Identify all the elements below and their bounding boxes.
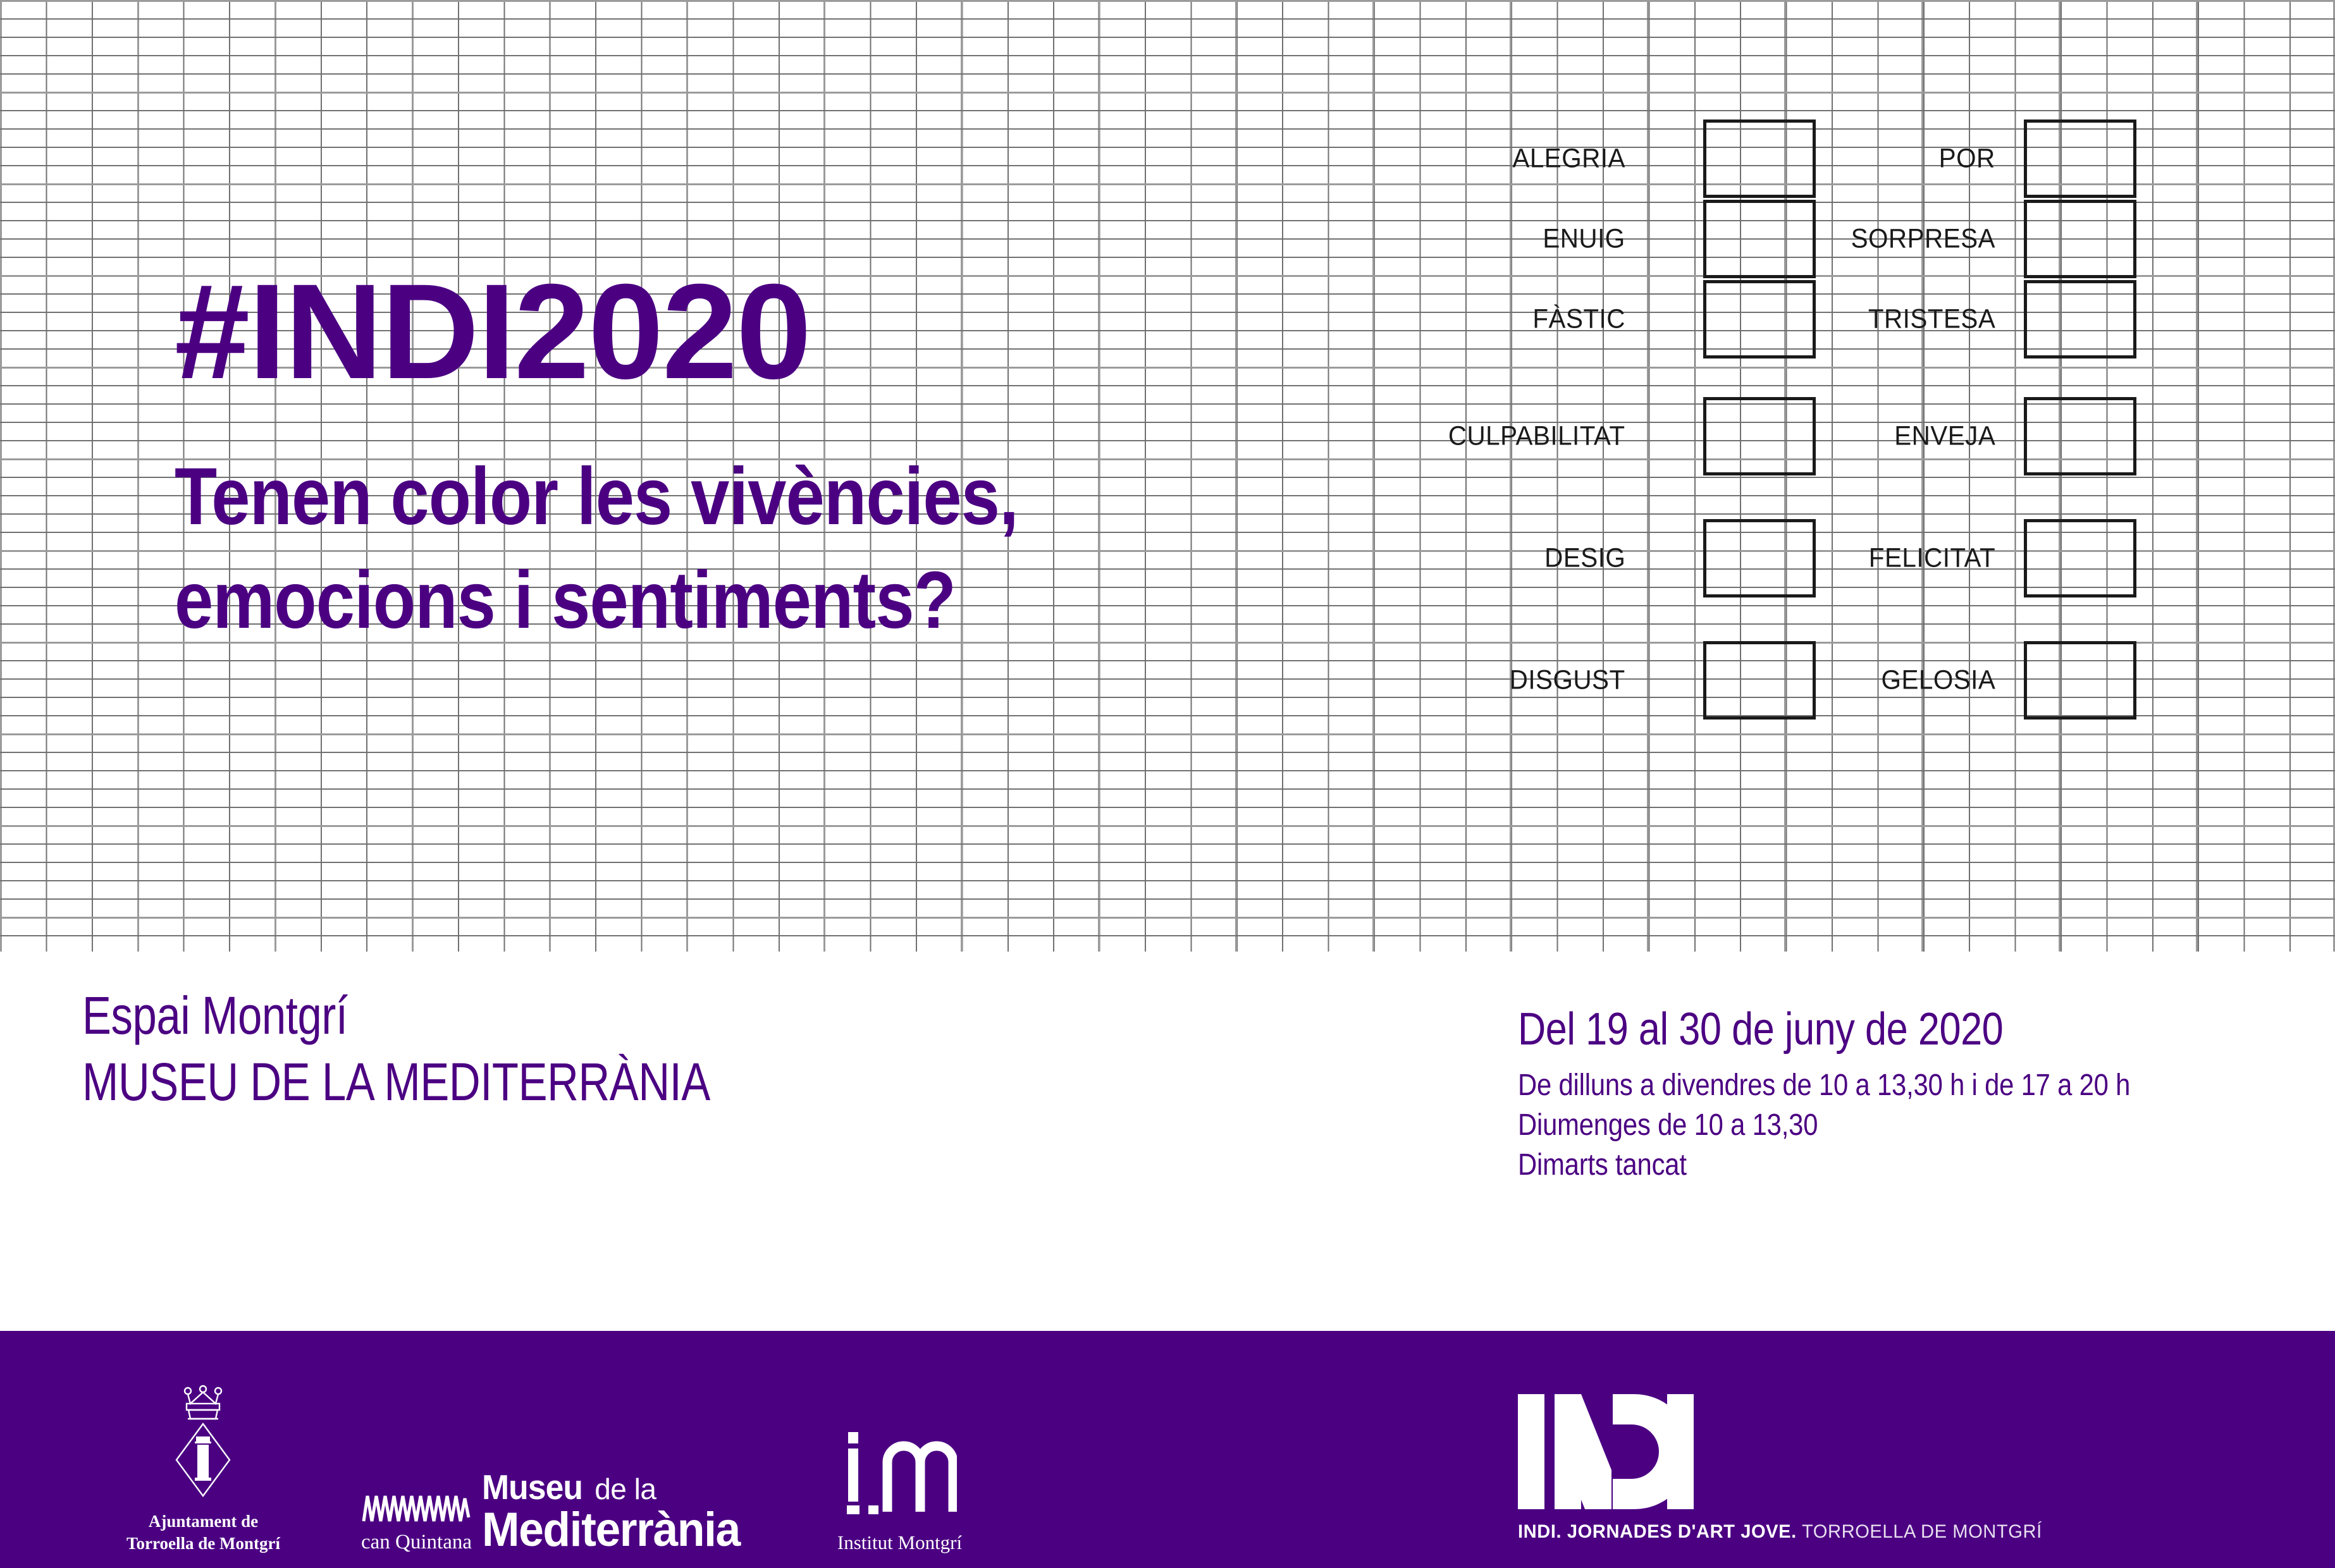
headline-block: #INDI2020 Tenen color les vivències, emo…	[175, 266, 1376, 652]
logo-can-quintana-label: can Quintana	[361, 1531, 472, 1554]
schedule-line-sundays: Diumenges de 10 a 13,30	[1518, 1105, 2130, 1145]
schedule-line-closed: Dimarts tancat	[1518, 1145, 2130, 1185]
emotion-row-enveja[interactable]: ENVEJA	[1505, 397, 2150, 475]
logo-institut-montgri[interactable]: Institut Montgrí	[837, 1423, 962, 1554]
emotion-row-sorpresa[interactable]: SORPRESA	[1505, 200, 2150, 278]
poster-canvas: #INDI2020 Tenen color les vivències, emo…	[0, 0, 2335, 1568]
emotion-checkbox-gelosia[interactable]	[2024, 641, 2136, 720]
emotion-label-sorpresa: SORPRESA	[1851, 224, 1995, 255]
town-crest-icon	[169, 1385, 237, 1504]
venue-block: Espai Montgrí MUSEU DE LA MEDITERRÀNIA	[82, 985, 848, 1113]
tagline-line-1: Tenen color les vivències,	[175, 445, 1208, 549]
emotion-row-tristesa[interactable]: TRISTESA	[1505, 280, 2150, 358]
emotion-checkbox-tristesa[interactable]	[2024, 280, 2136, 358]
logo-museu-mediterrania[interactable]: can Quintana Museu de la Mediterrània	[361, 1470, 756, 1554]
emotion-checkbox-enveja[interactable]	[2024, 397, 2136, 475]
wave-squiggle-icon	[361, 1492, 472, 1528]
venue-name: Espai Montgrí	[82, 985, 710, 1046]
page-title: #INDI2020	[175, 266, 1376, 398]
indi-wordmark-icon	[1518, 1394, 2058, 1512]
logo-ajuntament-torroella[interactable]: Ajuntament de Torroella de Montgrí	[126, 1385, 280, 1554]
emotion-label-felicitat: FELICITAT	[1869, 543, 1995, 574]
emotion-checkbox-por[interactable]	[2024, 119, 2136, 198]
emotions-checklist: ALEGRIA ENUIG FÀSTIC CULPABILITAT DESIG …	[1505, 95, 2176, 854]
logo-indi[interactable]: INDI. JORNADES D'ART JOVE. TORROELLA DE …	[1518, 1394, 2058, 1543]
logo-ajuntament-caption: Ajuntament de Torroella de Montgrí	[126, 1510, 280, 1554]
emotion-checkbox-felicitat[interactable]	[2024, 519, 2136, 597]
emotion-row-por[interactable]: POR	[1505, 119, 2150, 198]
tagline-line-2: emocions i sentiments?	[175, 549, 1208, 652]
indi-tagline-light: TORROELLA DE MONTGRÍ	[1797, 1521, 2042, 1542]
date-range: Del 19 al 30 de juny de 2020	[1518, 1004, 2116, 1055]
logo-museu-word-mediterrania: Mediterrània	[482, 1506, 740, 1554]
logo-can-quintana: can Quintana	[361, 1492, 472, 1554]
indi-tagline: INDI. JORNADES D'ART JOVE. TORROELLA DE …	[1518, 1521, 2042, 1543]
dates-block: Del 19 al 30 de juny de 2020 De dilluns …	[1518, 1004, 2222, 1185]
emotion-label-por: POR	[1939, 144, 1995, 175]
emotion-checkbox-sorpresa[interactable]	[2024, 200, 2136, 278]
emotion-row-felicitat[interactable]: FELICITAT	[1505, 519, 2150, 597]
logo-museu-wordmark: Museu de la Mediterrània	[482, 1470, 756, 1554]
venue-institution: MUSEU DE LA MEDITERRÀNIA	[82, 1051, 710, 1113]
logo-museu-word-museu: Museu	[482, 1470, 582, 1505]
tagline: Tenen color les vivències, emocions i se…	[175, 445, 1208, 652]
emotion-label-tristesa: TRISTESA	[1868, 304, 1995, 335]
logo-museu-word-dela: de la	[595, 1474, 656, 1504]
logo-museu-line1: Museu de la	[482, 1470, 756, 1505]
emotion-row-gelosia[interactable]: GELOSIA	[1505, 641, 2150, 720]
schedule-list: De dilluns a divendres de 10 a 13,30 h i…	[1518, 1065, 2222, 1185]
schedule-line-weekdays: De dilluns a divendres de 10 a 13,30 h i…	[1518, 1065, 2130, 1105]
emotion-label-gelosia: GELOSIA	[1881, 665, 1995, 696]
institut-monogram-icon	[843, 1423, 957, 1528]
emotion-label-enveja: ENVEJA	[1894, 421, 1995, 452]
indi-tagline-bold: INDI. JORNADES D'ART JOVE.	[1518, 1521, 1797, 1542]
sponsor-logos: Ajuntament de Torroella de Montgrí can Q…	[126, 1385, 962, 1554]
logo-institut-caption: Institut Montgrí	[837, 1531, 962, 1554]
